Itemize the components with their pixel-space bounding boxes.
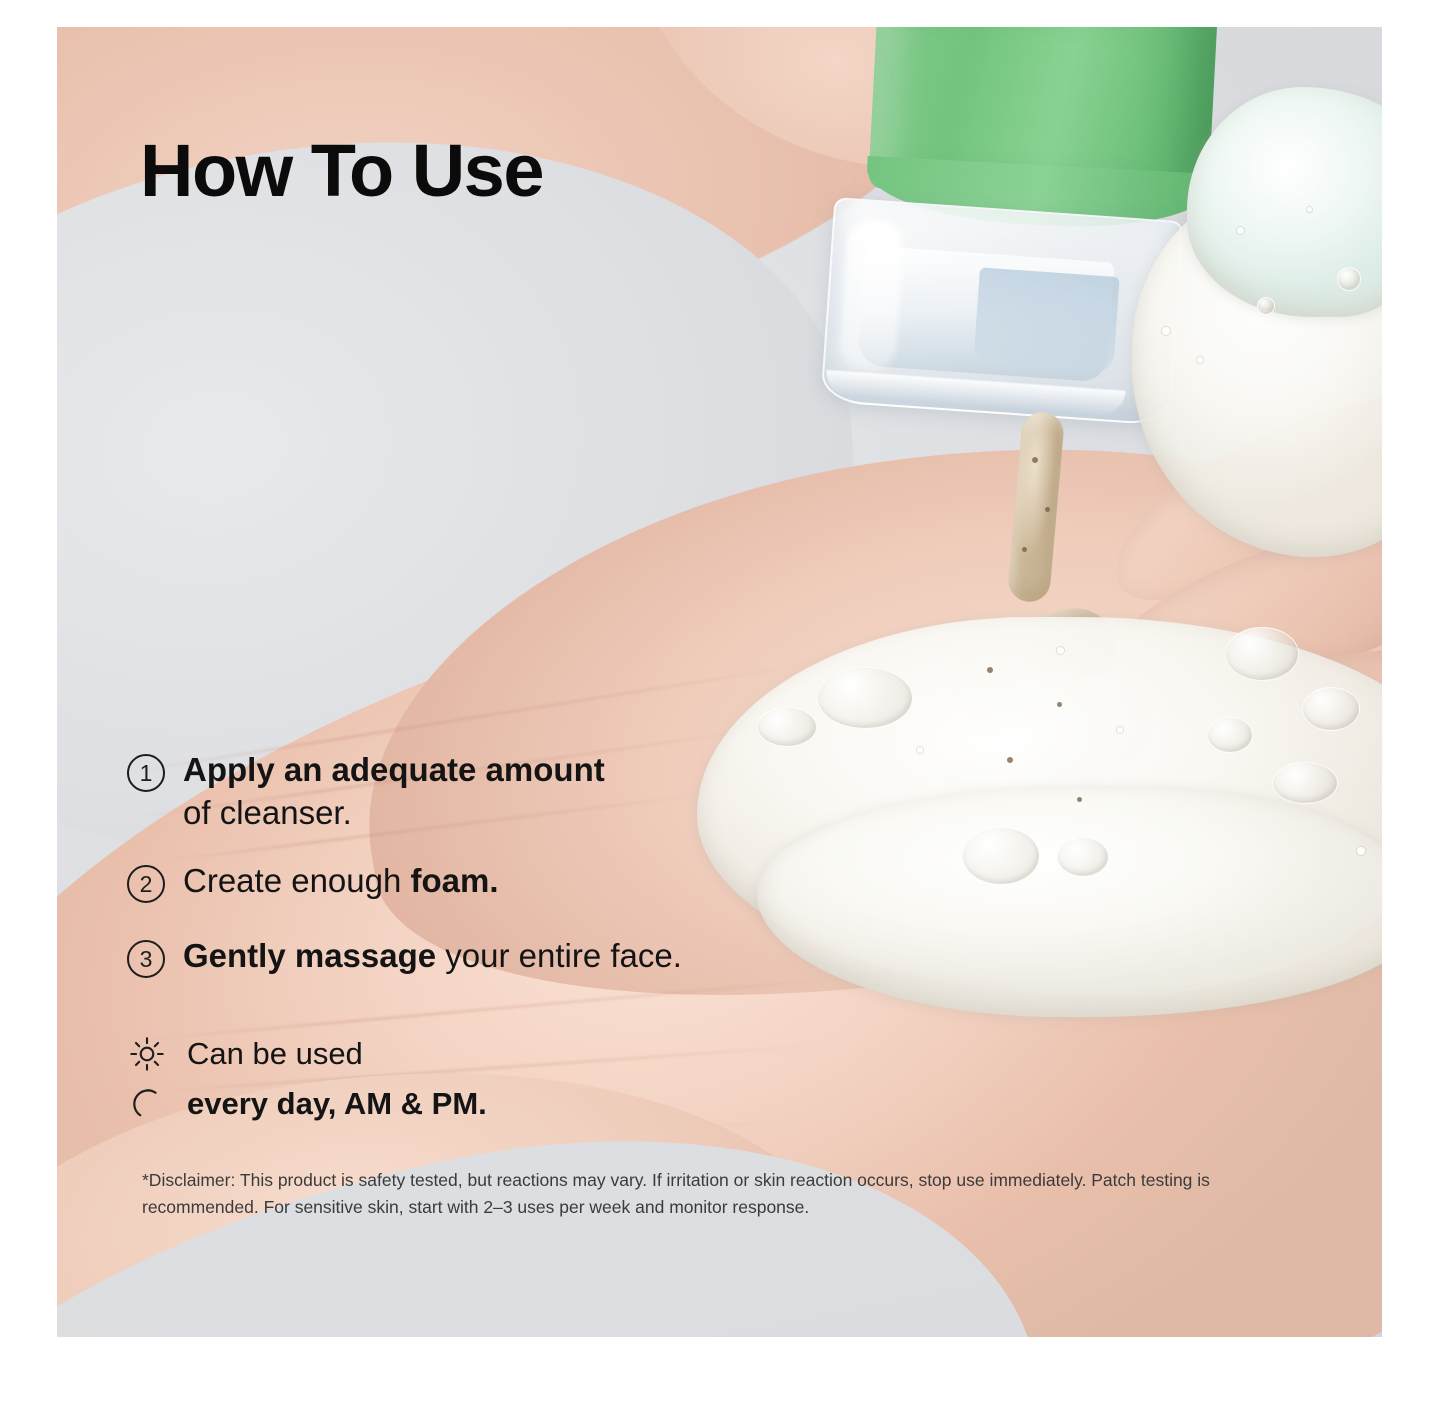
usage-am-label: Can be used	[187, 1035, 363, 1072]
circled-number-3-icon: 3	[127, 940, 165, 978]
step-1-text: Apply an adequate amount of cleanser.	[183, 749, 605, 835]
step-2-regular: Create enough	[183, 862, 411, 899]
step-1-regular: of cleanser.	[183, 794, 352, 831]
usage-pm-row: every day, AM & PM.	[127, 1084, 487, 1124]
step-2-bold: foam.	[411, 862, 499, 899]
step-2-text: Create enough foam.	[183, 860, 499, 903]
step-item-2: 2 Create enough foam.	[127, 860, 499, 903]
circled-number-1-icon: 1	[127, 754, 165, 792]
step-item-1: 1 Apply an adequate amount of cleanser.	[127, 749, 605, 835]
step-item-3: 3 Gently massage your entire face.	[127, 935, 682, 978]
text-overlay: How To Use 1 Apply an adequate amount of…	[57, 27, 1382, 1337]
step-3-text: Gently massage your entire face.	[183, 935, 682, 978]
step-1-bold: Apply an adequate amount	[183, 751, 605, 788]
product-demo-photo: How To Use 1 Apply an adequate amount of…	[57, 27, 1382, 1337]
usage-pm-label: every day, AM & PM.	[187, 1085, 487, 1122]
usage-am-row: Can be used	[127, 1034, 363, 1074]
step-3-regular: your entire face.	[436, 937, 682, 974]
sun-icon	[127, 1034, 167, 1074]
disclaimer-text: *Disclaimer: This product is safety test…	[142, 1167, 1272, 1221]
moon-icon	[127, 1084, 167, 1124]
circled-number-2-icon: 2	[127, 865, 165, 903]
step-3-bold: Gently massage	[183, 937, 436, 974]
page-title: How To Use	[140, 134, 543, 208]
